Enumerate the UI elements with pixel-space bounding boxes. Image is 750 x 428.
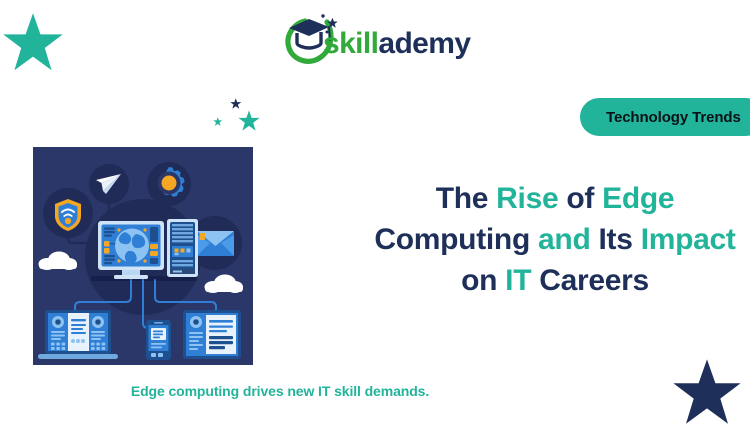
star-cluster-decoration	[208, 96, 264, 136]
headline-word: on	[461, 264, 497, 297]
tablet-device-icon	[183, 310, 241, 359]
category-badge-label: Technology Trends	[606, 109, 741, 126]
mini-star-teal-small	[213, 117, 222, 126]
headline-line-1: The Rise of Edge	[365, 178, 745, 219]
mini-star-teal-large	[238, 110, 259, 130]
headline-word: Its	[599, 223, 633, 256]
laptop-device-icon	[38, 310, 118, 359]
headline-word: IT	[505, 264, 531, 297]
logo-word-skill: skill	[323, 27, 378, 60]
headline-word: of	[566, 182, 594, 215]
headline-word: Rise	[496, 182, 558, 215]
logo-word-ademy: ademy	[378, 27, 470, 60]
star-decoration-navy	[672, 358, 742, 428]
headline-word: Impact	[641, 223, 736, 256]
star-decoration-teal	[2, 12, 64, 74]
smartphone-device-icon	[146, 320, 171, 360]
headline-line-3: on IT Careers	[365, 260, 745, 301]
brand-logo[interactable]: skillademy	[283, 12, 453, 68]
edge-computing-illustration	[33, 147, 253, 365]
mini-star-navy	[230, 98, 241, 109]
headline-word: and	[538, 223, 590, 256]
logo-wordmark: skillademy	[323, 29, 470, 59]
poster-canvas: skillademy Technology Trends The Rise of…	[0, 0, 750, 420]
subtitle-caption: Edge computing drives new IT skill deman…	[20, 383, 540, 399]
headline-word: Edge	[602, 182, 674, 215]
headline-word: Careers	[539, 264, 649, 297]
envelope-icon	[197, 231, 234, 256]
server-rack-icon	[167, 219, 198, 277]
page-title: The Rise of Edge Computing and Its Impac…	[365, 178, 745, 301]
headline-word: The	[436, 182, 488, 215]
headline-line-2: Computing and Its Impact	[365, 219, 745, 260]
headline-word: Computing	[374, 223, 530, 256]
category-badge[interactable]: Technology Trends	[580, 98, 750, 136]
